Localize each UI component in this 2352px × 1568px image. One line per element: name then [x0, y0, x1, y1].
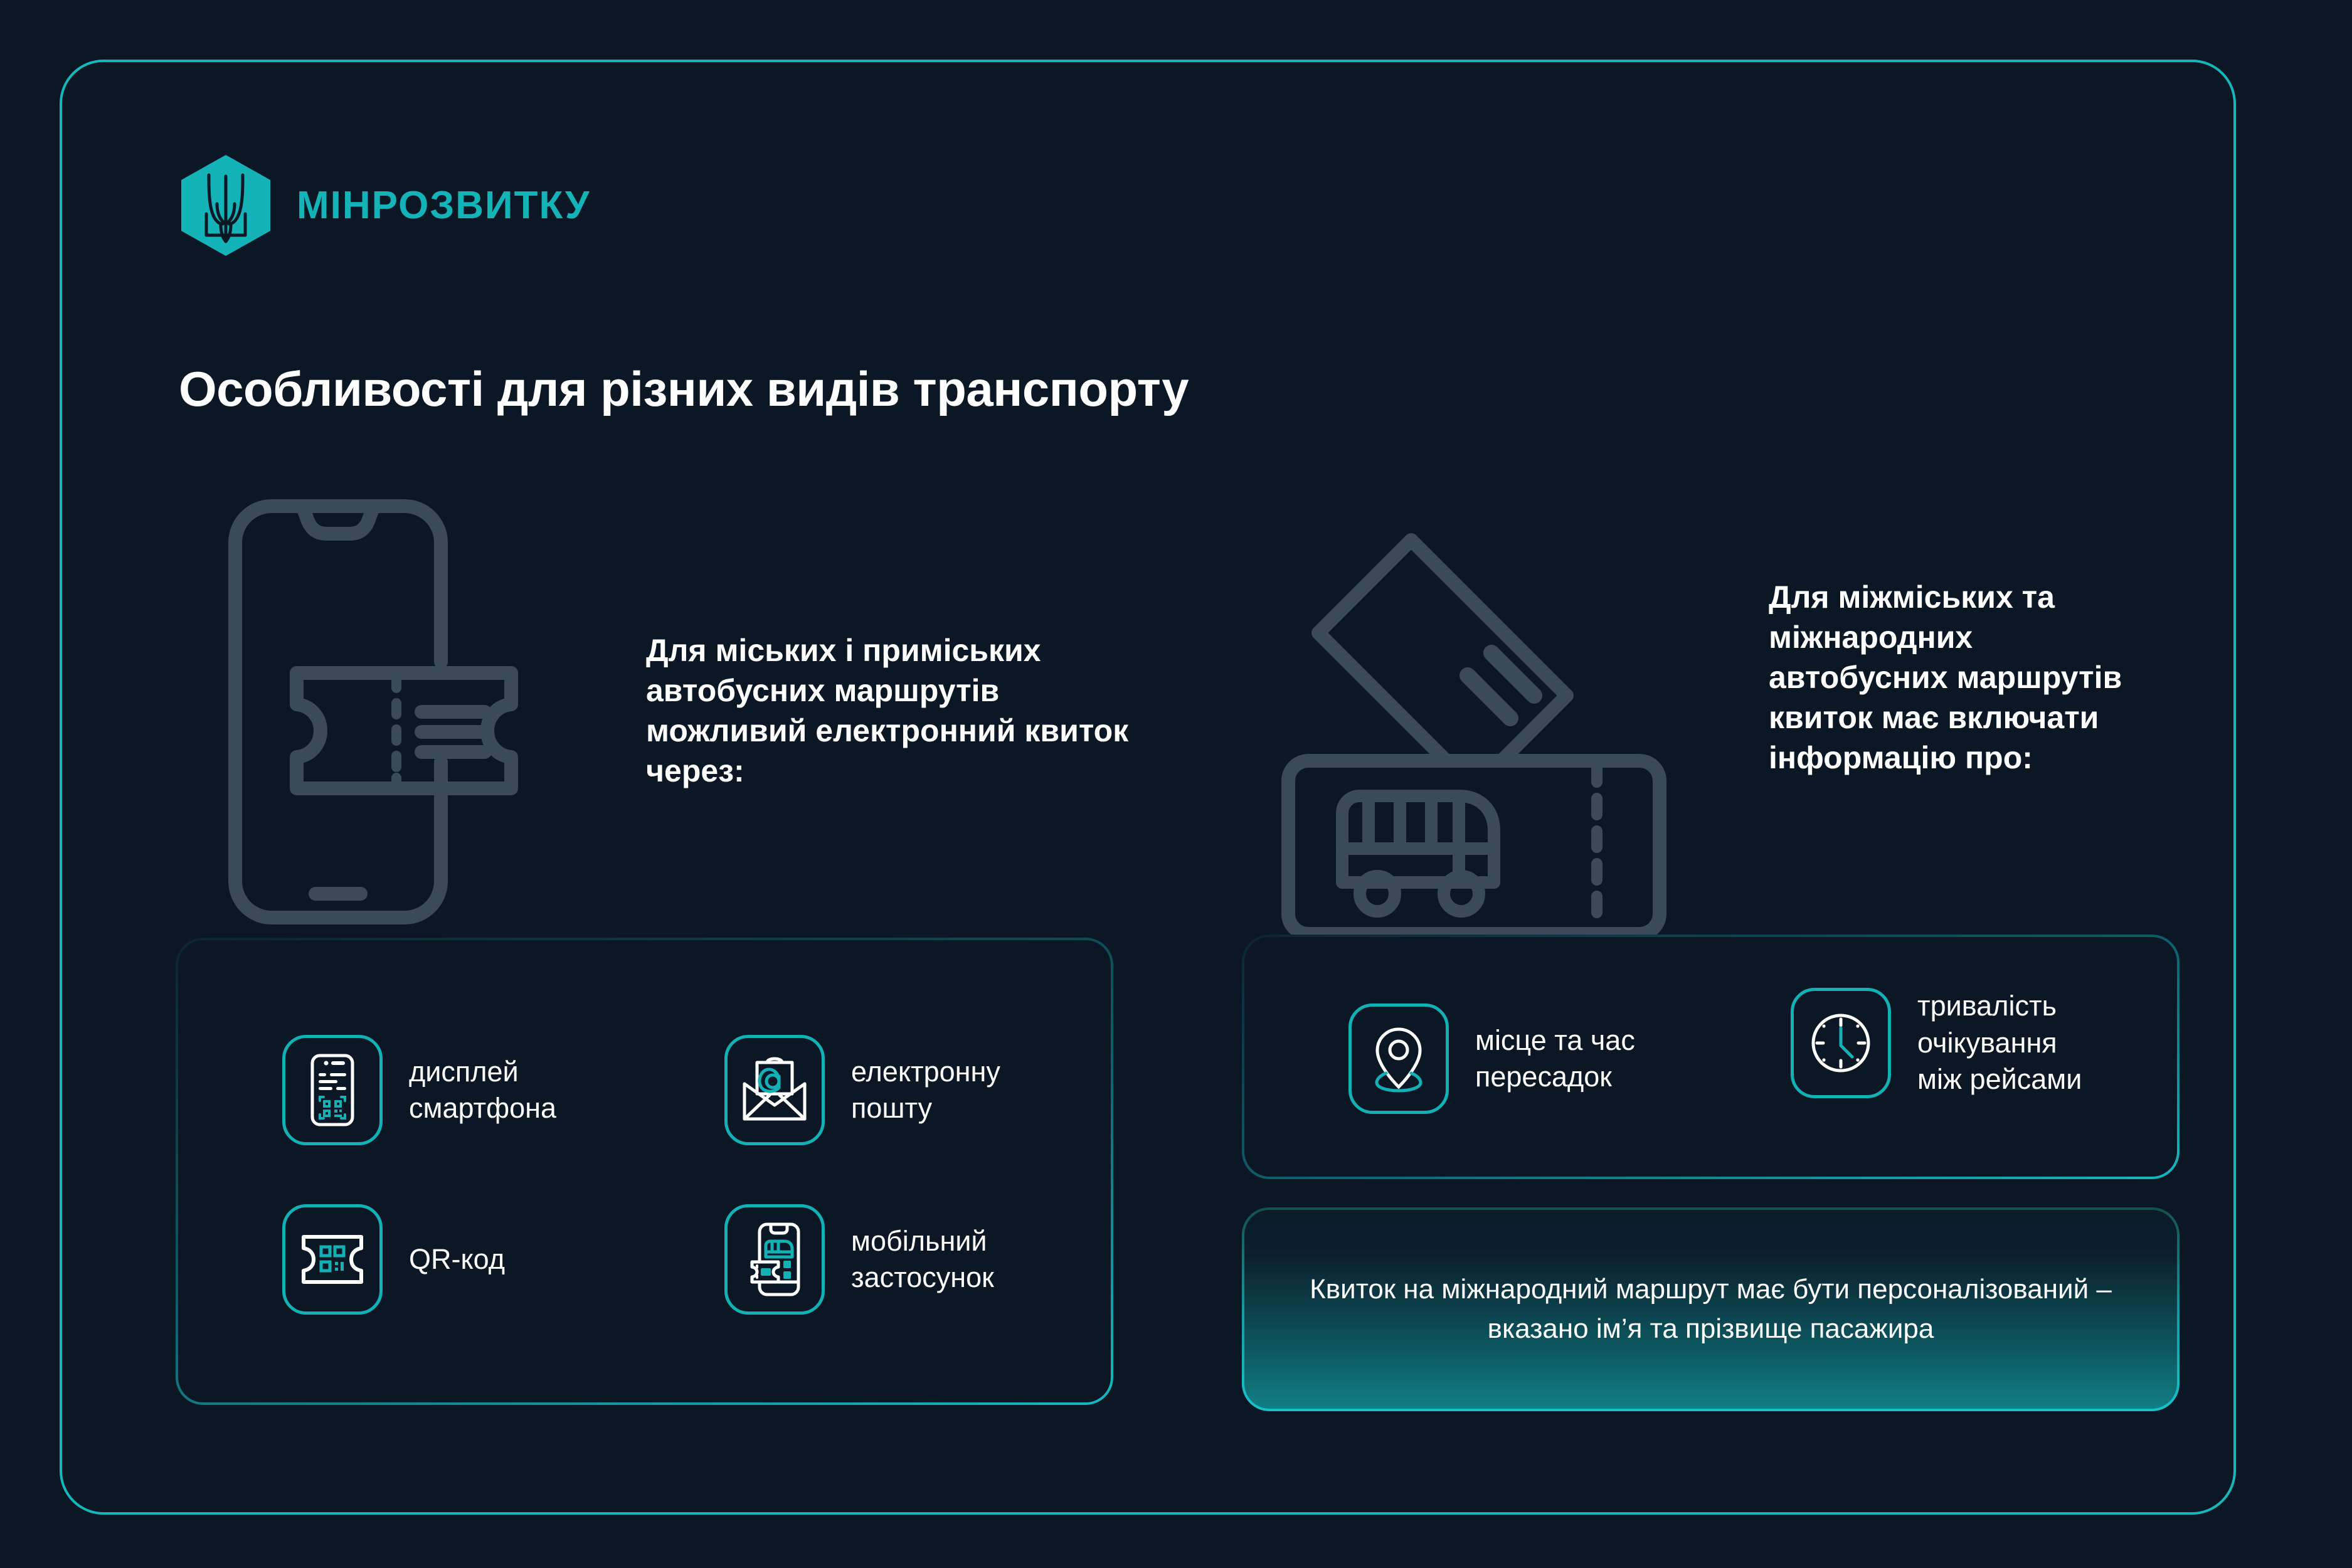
international-ticket-note-text: Квиток на міжнародний маршрут має бути п…: [1310, 1270, 2112, 1348]
feature-email-label: електронну пошту: [851, 1054, 1000, 1127]
envelope-email-icon: [724, 1035, 825, 1145]
brand-logo: МІНРОЗВИТКУ: [179, 154, 590, 257]
location-pin-icon: [1348, 1004, 1449, 1114]
qr-code-ticket-icon: [282, 1204, 383, 1315]
smartphone-with-ticket-illustration: [216, 492, 618, 931]
brand-name: МІНРОЗВИТКУ: [297, 186, 590, 225]
clock-icon: [1791, 988, 1891, 1098]
feature-qr[interactable]: QR-код: [282, 1204, 505, 1315]
feature-wait-duration-label: тривалість очікування між рейсами: [1917, 988, 2082, 1098]
mobile-app-ticket-icon: [724, 1204, 825, 1315]
ukraine-trident-hexagon-icon: [179, 154, 273, 257]
bus-tickets-illustration: [1261, 530, 1700, 944]
feature-email[interactable]: електронну пошту: [724, 1035, 1000, 1145]
right-intro-text: Для міжміських та міжнародних автобусних…: [1769, 577, 2145, 778]
infographic-canvas: МІНРОЗВИТКУ Особливості для різних видів…: [0, 0, 2352, 1568]
feature-transfer-place-time[interactable]: місце та час пересадок: [1348, 1004, 1635, 1114]
feature-display-label: дисплей смартфона: [409, 1054, 556, 1127]
international-ticket-note-card: Квиток на міжнародний маршрут має бути п…: [1242, 1207, 2180, 1411]
feature-display[interactable]: дисплей смартфона: [282, 1035, 556, 1145]
left-features-panel: [176, 938, 1113, 1405]
feature-transfer-place-time-label: місце та час пересадок: [1475, 1022, 1635, 1096]
feature-mobile-app[interactable]: мобільний застосунок: [724, 1204, 994, 1315]
feature-qr-label: QR-код: [409, 1241, 505, 1278]
left-intro-text: Для міських і приміських автобусних марш…: [646, 630, 1160, 791]
feature-mobile-app-label: мобільний застосунок: [851, 1223, 994, 1296]
feature-wait-duration[interactable]: тривалість очікування між рейсами: [1791, 988, 2082, 1098]
smartphone-qr-display-icon: [282, 1035, 383, 1145]
page-title: Особливості для різних видів транспорту: [179, 361, 1189, 418]
